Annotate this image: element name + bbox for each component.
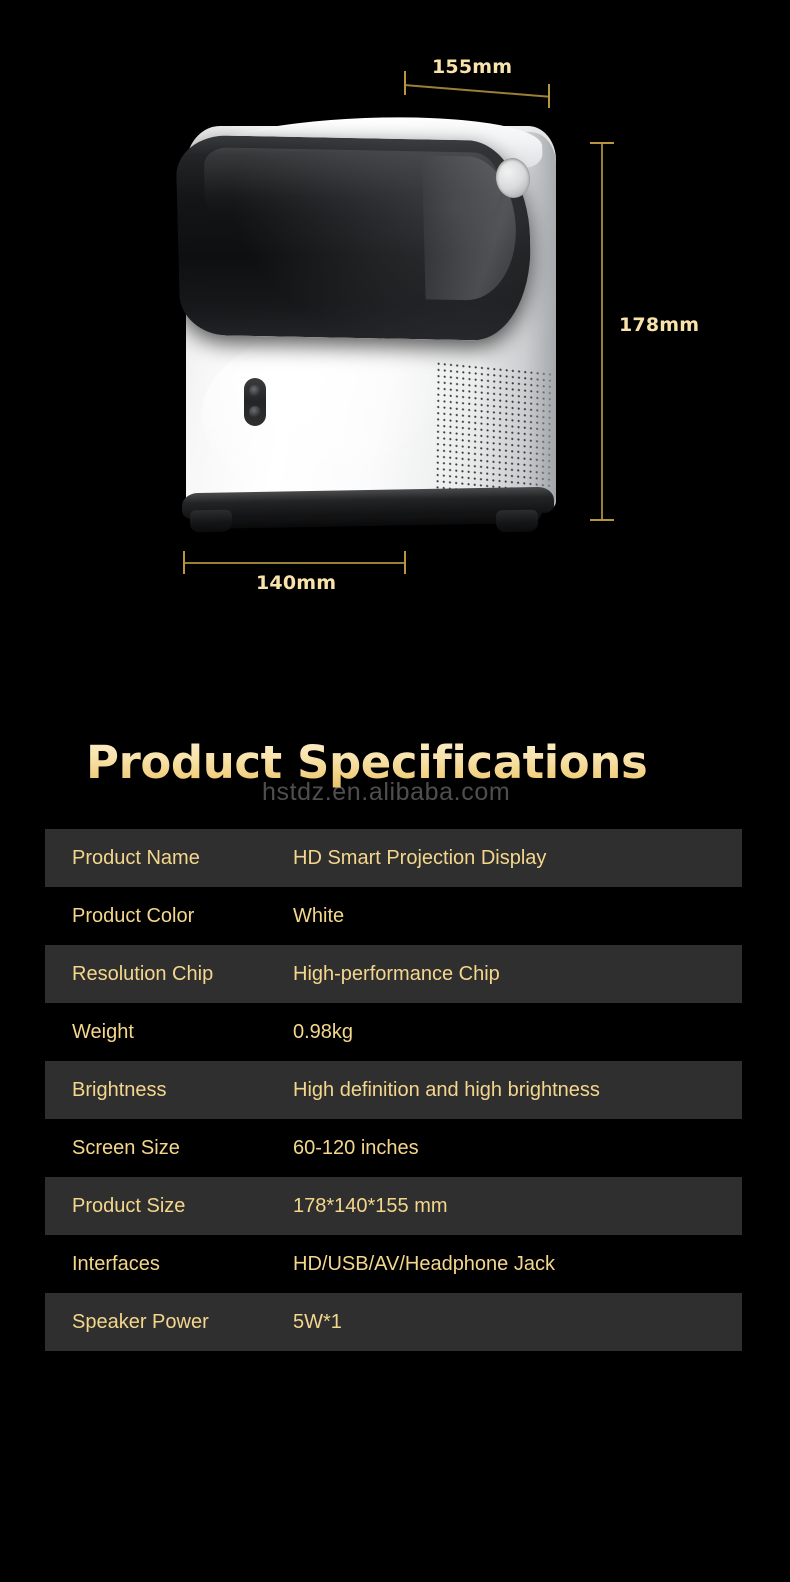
spec-value: HD Smart Projection Display: [293, 847, 742, 870]
dimension-tick-155-left: [404, 71, 406, 95]
table-row: Product ColorWhite: [45, 887, 742, 945]
dimension-tick-155-right: [548, 84, 550, 108]
dimension-line-155: [404, 84, 550, 97]
spec-label: Product Color: [45, 905, 293, 928]
projector-device: [178, 118, 560, 528]
table-row: Weight0.98kg: [45, 1003, 742, 1061]
table-row: Speaker Power5W*1: [45, 1293, 742, 1351]
device-black-front-panel: [175, 135, 533, 342]
spec-value: 0.98kg: [293, 1021, 742, 1044]
spec-label: Interfaces: [45, 1253, 293, 1276]
spec-value: HD/USB/AV/Headphone Jack: [293, 1253, 742, 1276]
table-row: BrightnessHigh definition and high brigh…: [45, 1061, 742, 1119]
table-row: InterfacesHD/USB/AV/Headphone Jack: [45, 1235, 742, 1293]
dimension-tick-178-top: [590, 142, 614, 144]
spec-label: Product Name: [45, 847, 293, 870]
dimension-label-140: 140mm: [256, 572, 336, 594]
spec-value: 5W*1: [293, 1311, 742, 1334]
spec-value: High-performance Chip: [293, 963, 742, 986]
dimension-line-178: [601, 142, 603, 520]
control-button-bottom: [249, 406, 261, 418]
dimension-label-155: 155mm: [432, 56, 512, 78]
device-body-highlight: [202, 330, 452, 500]
base-foot-right: [496, 510, 538, 533]
speaker-grille: [434, 360, 553, 499]
page-title: Product Specifications: [86, 736, 647, 789]
dimension-tick-140-left: [183, 551, 185, 574]
dimension-tick-178-bottom: [590, 519, 614, 521]
dimension-line-140: [183, 562, 405, 564]
section-title-area: Product Specifications hstdz.en.alibaba.…: [0, 736, 790, 810]
spec-label: Speaker Power: [45, 1311, 293, 1334]
spec-label: Screen Size: [45, 1137, 293, 1160]
product-spec-page: 155mm 178mm 140mm Product Specifications…: [0, 0, 790, 1582]
dual-control-buttons: [244, 378, 266, 426]
spec-value: High definition and high brightness: [293, 1079, 742, 1102]
spec-value: White: [293, 905, 742, 928]
spec-label: Weight: [45, 1021, 293, 1044]
table-row: Product Size178*140*155 mm: [45, 1177, 742, 1235]
dimension-tick-140-right: [404, 551, 406, 574]
product-photo: 155mm 178mm 140mm: [0, 0, 790, 640]
spec-label: Brightness: [45, 1079, 293, 1102]
spec-value: 178*140*155 mm: [293, 1195, 742, 1218]
dimension-label-178: 178mm: [619, 314, 699, 336]
spec-label: Product Size: [45, 1195, 293, 1218]
spec-label: Resolution Chip: [45, 963, 293, 986]
spec-value: 60-120 inches: [293, 1137, 742, 1160]
table-row: Screen Size60-120 inches: [45, 1119, 742, 1177]
control-button-top: [249, 385, 261, 397]
table-row: Product NameHD Smart Projection Display: [45, 829, 742, 887]
table-row: Resolution ChipHigh-performance Chip: [45, 945, 742, 1003]
base-foot-left: [190, 510, 232, 533]
spec-table: Product NameHD Smart Projection DisplayP…: [45, 829, 742, 1351]
